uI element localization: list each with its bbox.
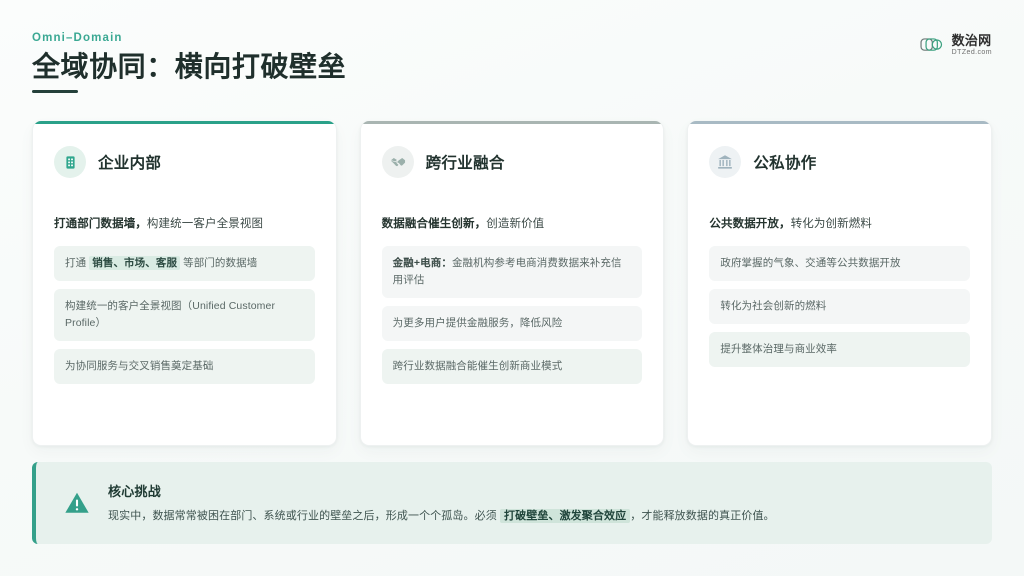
core-challenge-callout: 核心挑战 现实中，数据常常被困在部门、系统或行业的壁垒之后，形成一个个孤岛。必须… [32, 462, 992, 544]
warning-triangle-icon [62, 488, 92, 518]
handshake-icon [382, 146, 414, 178]
card-lead-rest: 创造新价值 [486, 218, 544, 230]
card-lead-bold: 公共数据开放， [709, 218, 790, 230]
card-inner: 公私协作公共数据开放，转化为创新燃料政府掌握的气象、交通等公共数据开放转化为社会… [688, 124, 991, 367]
callout-text-highlight: 打破壁垒、激发聚合效应 [500, 509, 630, 523]
bullet-text: 转化为社会创新的燃料 [720, 300, 826, 312]
page-title: 全域协同：横向打破壁垒 [32, 51, 346, 83]
card-lead-text: 数据融合催生创新，创造新价值 [382, 216, 643, 233]
bank-icon [709, 146, 741, 178]
card-title: 企业内部 [98, 151, 161, 173]
card-bullet-list: 政府掌握的气象、交通等公共数据开放转化为社会创新的燃料提升整体治理与商业效率 [709, 246, 970, 367]
bullet-item: 为协同服务与交叉销售奠定基础 [54, 349, 315, 384]
callout-body: 核心挑战 现实中，数据常常被困在部门、系统或行业的壁垒之后，形成一个个孤岛。必须… [108, 481, 970, 525]
bullet-text: 等部门的数据墙 [180, 257, 257, 269]
card-lead-bold: 数据融合催生创新， [382, 218, 487, 230]
card-header: 公私协作 [709, 146, 970, 178]
bullet-text: 提升整体治理与商业效率 [720, 343, 837, 355]
card-inner: 企业内部打通部门数据墙，构建统一客户全景视图打通 销售、市场、客服 等部门的数据… [33, 124, 336, 384]
card-title: 跨行业融合 [426, 151, 505, 173]
bullet-text: 打通 [65, 257, 89, 269]
bullet-text: 为协同服务与交叉销售奠定基础 [65, 360, 213, 372]
building-icon [54, 146, 86, 178]
callout-text: 现实中，数据常常被困在部门、系统或行业的壁垒之后，形成一个个孤岛。必须 打破壁垒… [108, 508, 970, 525]
brand-text: 数治网 DTZed.com [952, 34, 992, 56]
card-header: 企业内部 [54, 146, 315, 178]
callout-title: 核心挑战 [108, 481, 970, 500]
slide-header: Omni–Domain 全域协同：横向打破壁垒 [32, 32, 346, 93]
bullet-item: 提升整体治理与商业效率 [709, 332, 970, 367]
card-bullet-list: 打通 销售、市场、客服 等部门的数据墙构建统一的客户全景视图（Unified C… [54, 246, 315, 384]
bullet-text: 跨行业数据融合能催生创新商业模式 [393, 360, 563, 372]
card-inner: 跨行业融合数据融合催生创新，创造新价值金融+电商：金融机构参考电商消费数据来补充… [361, 124, 664, 384]
brand-logo: 数治网 DTZed.com [920, 34, 992, 56]
bullet-item: 打通 销售、市场、客服 等部门的数据墙 [54, 246, 315, 281]
bullet-item: 转化为社会创新的燃料 [709, 289, 970, 324]
bullet-text: 政府掌握的气象、交通等公共数据开放 [720, 257, 900, 269]
overlapping-squares-logo-icon [920, 34, 946, 56]
bullet-text: 为更多用户提供金融服务，降低风险 [393, 317, 563, 329]
card-cross-industry-integration: 跨行业融合数据融合催生创新，创造新价值金融+电商：金融机构参考电商消费数据来补充… [360, 121, 665, 446]
bullet-item: 构建统一的客户全景视图（Unified Customer Profile） [54, 289, 315, 341]
card-title: 公私协作 [753, 151, 816, 173]
card-header: 跨行业融合 [382, 146, 643, 178]
brand-url: DTZed.com [952, 49, 992, 56]
callout-text-before: 现实中，数据常常被困在部门、系统或行业的壁垒之后，形成一个个孤岛。必须 [108, 510, 500, 522]
slide-root: Omni–Domain 全域协同：横向打破壁垒 数治网 DTZed.com 企业… [0, 0, 1024, 576]
card-bullet-list: 金融+电商：金融机构参考电商消费数据来补充信用评估为更多用户提供金融服务，降低风… [382, 246, 643, 384]
bullet-text: 构建统一的客户全景视图（Unified Customer Profile） [65, 300, 275, 329]
bullet-item: 政府掌握的气象、交通等公共数据开放 [709, 246, 970, 281]
card-lead-bold: 打通部门数据墙， [54, 218, 147, 230]
bullet-highlight: 销售、市场、客服 [89, 256, 180, 270]
card-public-private-cooperation: 公私协作公共数据开放，转化为创新燃料政府掌握的气象、交通等公共数据开放转化为社会… [687, 121, 992, 446]
card-enterprise-internal: 企业内部打通部门数据墙，构建统一客户全景视图打通 销售、市场、客服 等部门的数据… [32, 121, 337, 446]
cards-row: 企业内部打通部门数据墙，构建统一客户全景视图打通 销售、市场、客服 等部门的数据… [32, 121, 992, 446]
card-lead-rest: 构建统一客户全景视图 [147, 218, 263, 230]
bullet-text: 金融+电商： [393, 257, 452, 269]
bullet-item: 为更多用户提供金融服务，降低风险 [382, 306, 643, 341]
card-lead-text: 公共数据开放，转化为创新燃料 [709, 216, 970, 233]
bullet-item: 金融+电商：金融机构参考电商消费数据来补充信用评估 [382, 246, 643, 298]
brand-name: 数治网 [952, 34, 992, 47]
card-lead-text: 打通部门数据墙，构建统一客户全景视图 [54, 216, 315, 233]
title-accent-rule [32, 90, 78, 93]
bullet-item: 跨行业数据融合能催生创新商业模式 [382, 349, 643, 384]
card-lead-rest: 转化为创新燃料 [791, 218, 872, 230]
eyebrow-label: Omni–Domain [32, 32, 346, 44]
callout-text-after: ，才能释放数据的真正价值。 [630, 510, 774, 522]
